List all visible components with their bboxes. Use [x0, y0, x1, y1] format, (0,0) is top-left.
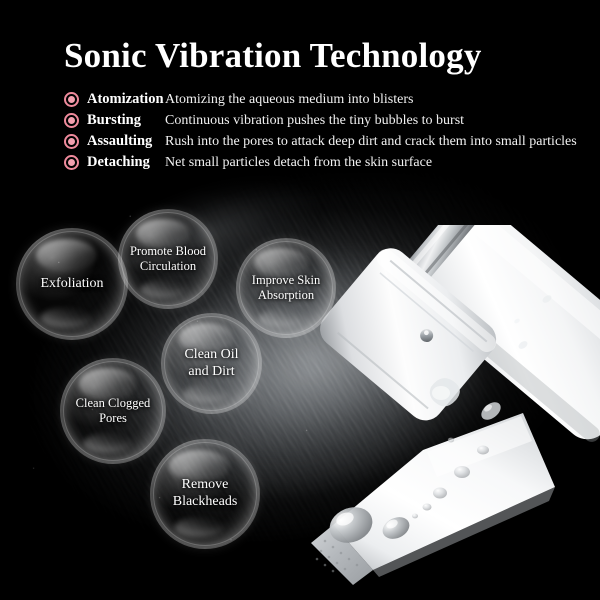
feature-list: AtomizationAtomizing the aqueous medium …: [64, 89, 564, 173]
benefit-bubble-label: Remove Blackheads: [167, 477, 244, 510]
feature-row: BurstingContinuous vibration pushes the …: [64, 110, 564, 131]
bubble-lower-highlight-icon: [184, 384, 230, 403]
ring-dot-icon: [64, 92, 79, 107]
feature-term: Detaching: [87, 154, 165, 171]
benefit-bubble-label: Improve Skin Absorption: [246, 273, 326, 303]
bubble-highlight-icon: [79, 368, 137, 399]
feature-term: Bursting: [87, 112, 165, 129]
benefit-bubble-label: Promote Blood Circulation: [124, 244, 212, 274]
feature-row: AssaultingRush into the pores to attack …: [64, 131, 564, 152]
benefit-bubble: Exfoliation: [16, 228, 128, 340]
feature-description: Net small particles detach from the skin…: [165, 155, 432, 171]
bubble-highlight-icon: [36, 239, 98, 272]
feature-row: DetachingNet small particles detach from…: [64, 152, 564, 173]
feature-row: AtomizationAtomizing the aqueous medium …: [64, 89, 564, 110]
benefit-bubble: Promote Blood Circulation: [118, 209, 218, 309]
benefit-bubble: Improve Skin Absorption: [236, 238, 336, 338]
bubble-lower-highlight-icon: [141, 280, 186, 299]
benefit-bubble: Clean Oil and Dirt: [161, 313, 262, 414]
bubble-lower-highlight-icon: [41, 307, 92, 328]
bubble-lower-highlight-icon: [175, 517, 225, 538]
feature-description: Continuous vibration pushes the tiny bub…: [165, 113, 464, 129]
benefit-bubble-label: Exfoliation: [35, 276, 110, 293]
page-title: Sonic Vibration Technology: [64, 38, 504, 73]
ring-dot-icon: [64, 134, 79, 149]
feature-description: Atomizing the aqueous medium into bliste…: [165, 92, 413, 108]
feature-term: Assaulting: [87, 133, 165, 150]
bubble-lower-highlight-icon: [84, 433, 132, 453]
feature-description: Rush into the pores to attack deep dirt …: [165, 134, 577, 150]
ring-dot-icon: [64, 155, 79, 170]
feature-term: Atomization: [87, 91, 165, 108]
benefit-bubble: Remove Blackheads: [150, 439, 260, 549]
ring-dot-icon: [64, 113, 79, 128]
benefit-bubble-label: Clean Clogged Pores: [70, 396, 157, 426]
benefit-bubble-label: Clean Oil and Dirt: [178, 347, 244, 380]
product-feature-banner: ExfoliationPromote Blood CirculationImpr…: [0, 0, 600, 600]
benefit-bubble: Clean Clogged Pores: [60, 358, 166, 464]
bubble-lower-highlight-icon: [259, 309, 304, 328]
